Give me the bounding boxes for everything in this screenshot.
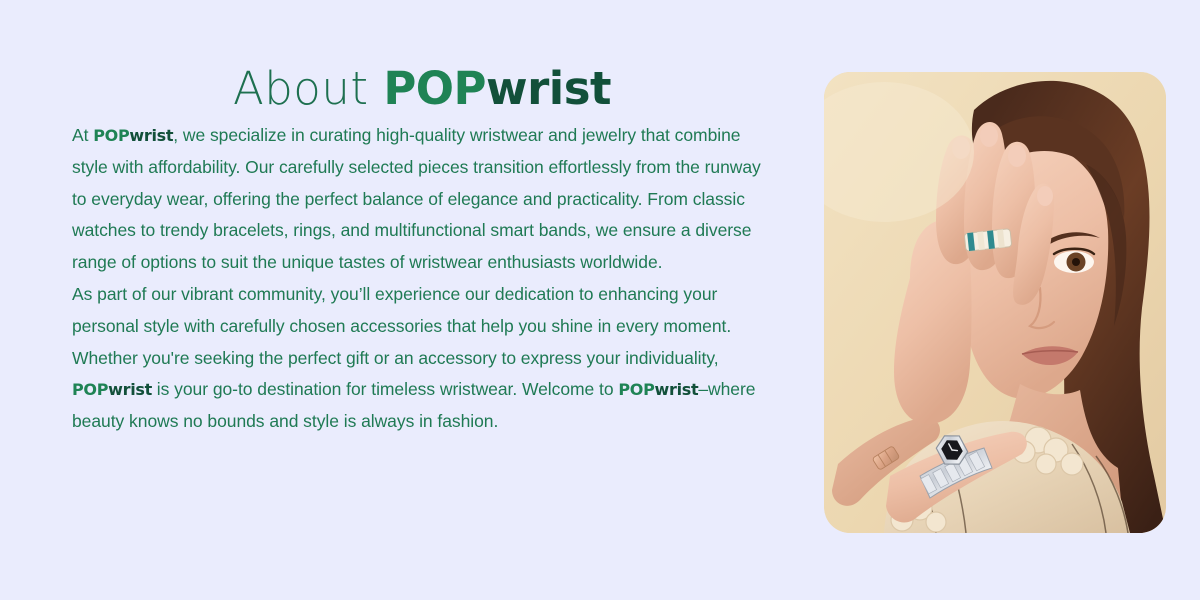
brand-logo-wrist: wrist bbox=[108, 380, 152, 399]
pupil bbox=[1072, 258, 1080, 266]
paragraph-1-rest: , we specialize in curating high-quality… bbox=[72, 125, 761, 272]
page-title: About POPwrist bbox=[72, 58, 772, 120]
hero-photo-illustration bbox=[824, 72, 1166, 533]
paragraph-1-lead: At bbox=[72, 125, 93, 145]
brand-logo-pop: POP bbox=[72, 380, 108, 399]
page-title-about-text: About bbox=[233, 62, 383, 115]
paragraph-2-middle: is your go-to destination for timeless w… bbox=[152, 379, 618, 399]
brand-logo-wrist: wrist bbox=[486, 62, 611, 115]
brand-logo-inline-1: POPwrist bbox=[93, 126, 173, 145]
brand-logo-wrist: wrist bbox=[129, 126, 173, 145]
brand-logo-pop: POP bbox=[618, 380, 654, 399]
brand-logo-pop: POP bbox=[383, 62, 486, 115]
about-copy: At POPwrist, we specialize in curating h… bbox=[72, 120, 762, 438]
about-paragraph-1: At POPwrist, we specialize in curating h… bbox=[72, 120, 762, 279]
brand-logo-pop: POP bbox=[93, 126, 129, 145]
about-paragraph-2: As part of our vibrant community, you’ll… bbox=[72, 279, 762, 438]
hero-photo bbox=[824, 72, 1166, 533]
brand-logo-inline-3: POPwrist bbox=[618, 380, 698, 399]
brand-logo-inline-2: POPwrist bbox=[72, 380, 152, 399]
about-section: About POPwrist At POPwrist, we specializ… bbox=[0, 0, 1200, 600]
brand-logo-heading: POPwrist bbox=[383, 62, 611, 115]
paragraph-2-lead: As part of our vibrant community, you’ll… bbox=[72, 284, 731, 368]
brand-logo-wrist: wrist bbox=[655, 380, 699, 399]
